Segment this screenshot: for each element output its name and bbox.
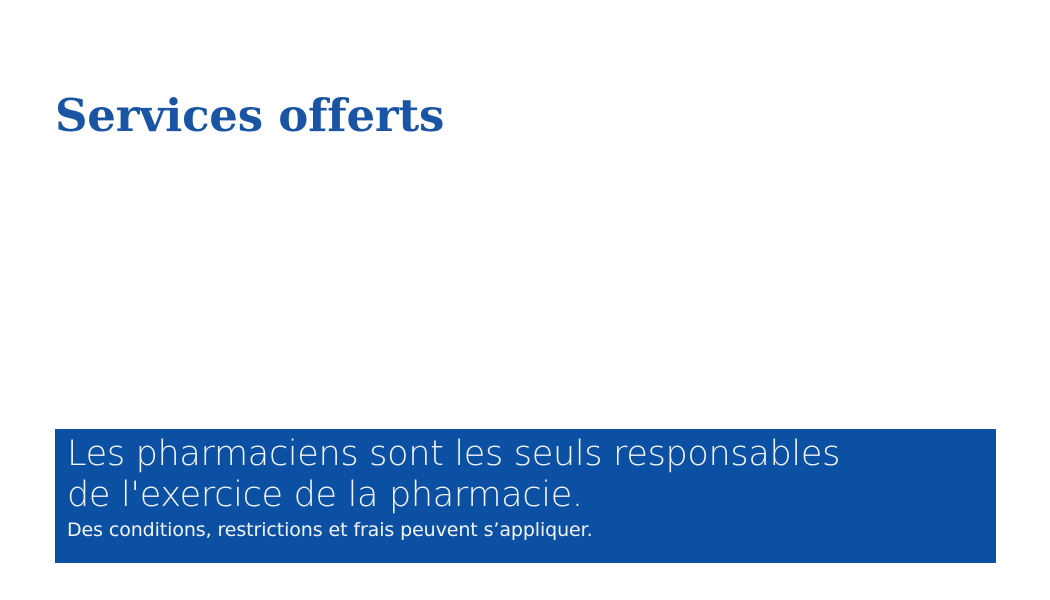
slide-content-area (55, 130, 996, 420)
callout-subtext: Des conditions, restrictions et frais pe… (67, 518, 982, 542)
callout-banner: Les pharmaciens sont les seuls responsab… (55, 429, 996, 563)
slide-canvas: Services offerts Les pharmaciens sont le… (0, 0, 1050, 600)
callout-heading: Les pharmaciens sont les seuls responsab… (67, 434, 982, 516)
